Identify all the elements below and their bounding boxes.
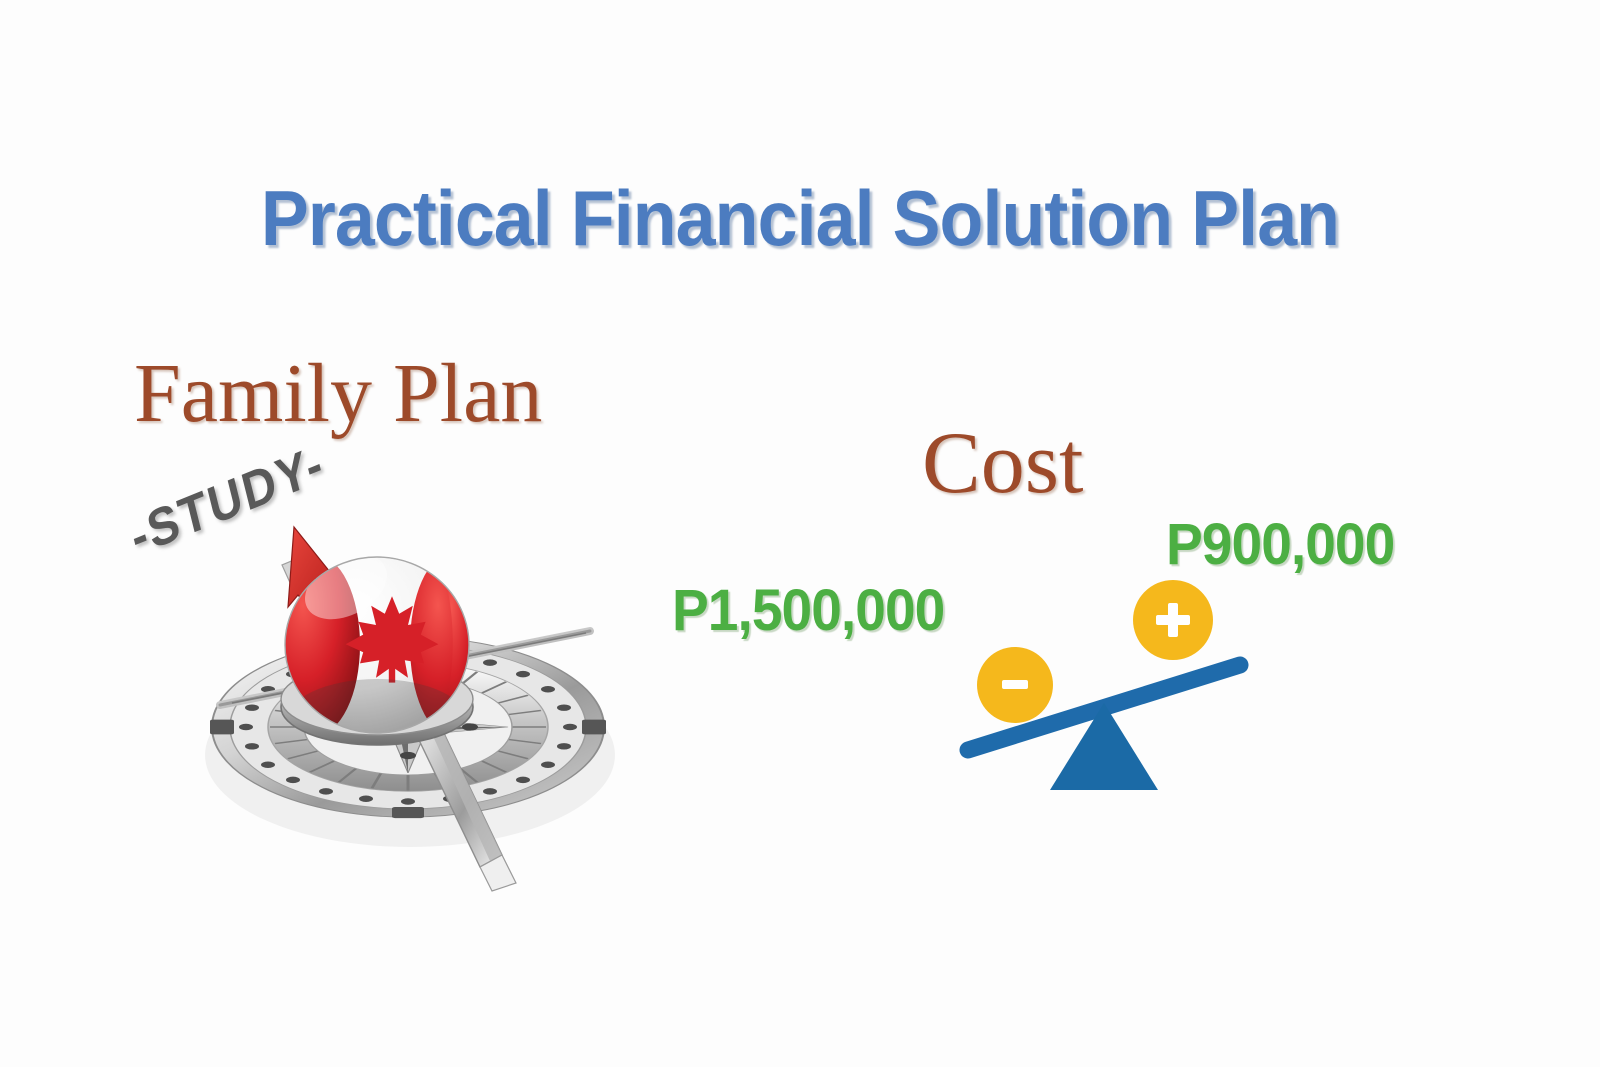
balance-scale-illustration: [940, 575, 1280, 805]
slide-canvas: Practical Financial Solution Plan Family…: [0, 0, 1600, 1067]
plus-weight: [1133, 580, 1213, 660]
minus-weight: [977, 647, 1053, 723]
amount-right-value: P900,000: [1166, 516, 1394, 574]
amount-left-value: P1,500,000: [672, 582, 944, 640]
family-plan-heading: Family Plan: [134, 352, 542, 436]
compass-illustration: [120, 455, 690, 915]
minus-sign: [1002, 680, 1028, 689]
page-title: Practical Financial Solution Plan: [64, 178, 1536, 260]
cost-heading: Cost: [922, 420, 1083, 508]
